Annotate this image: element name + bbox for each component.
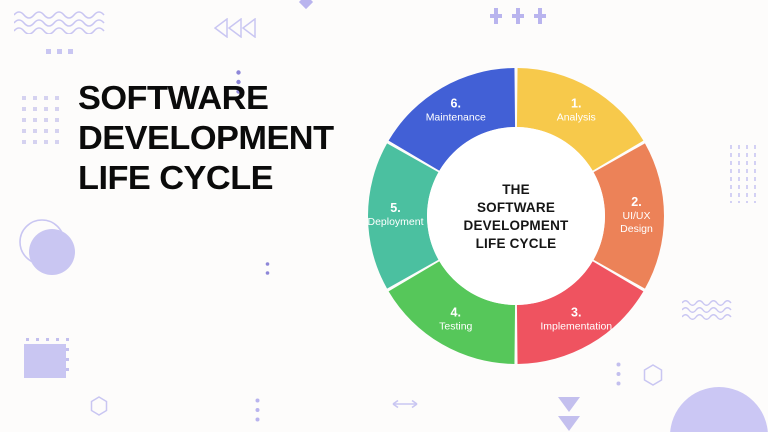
page-title: SOFTWARE DEVELOPMENT LIFE CYCLE	[78, 78, 378, 198]
segment-label: Maintenance	[426, 112, 486, 124]
center-text-line: THE	[502, 182, 530, 197]
segment-label: UI/UX	[622, 210, 650, 222]
dot-grid-small-left-icon	[26, 338, 72, 374]
circle-filled-bottom-right-icon	[670, 387, 768, 432]
dashed-lines-right-icon	[730, 145, 756, 203]
title-line-2: DEVELOPMENT	[78, 118, 390, 158]
segment-number: 1.	[571, 97, 581, 111]
slide-canvas: SOFTWARE DEVELOPMENT LIFE CYCLE 1.Analys…	[0, 0, 768, 432]
title-line-1: SOFTWARE	[78, 78, 390, 118]
center-text-line: LIFE CYCLE	[476, 236, 557, 251]
segment-number: 2.	[631, 195, 641, 209]
diamond-top-icon	[297, 0, 315, 14]
segment-label-2: Design	[620, 223, 653, 235]
center-text-line: DEVELOPMENT	[464, 218, 570, 233]
segment-label: Testing	[439, 320, 472, 332]
donut-center-hole	[427, 127, 605, 305]
segment-label: Implementation	[540, 320, 612, 332]
double-arrow-bottom-icon	[388, 398, 422, 410]
center-text-line: SOFTWARE	[477, 200, 555, 215]
wave-lines-bottom-right-icon	[682, 298, 734, 320]
segment-number: 4.	[451, 305, 461, 319]
dot-grid-left-icon	[22, 96, 66, 150]
circle-outline-left-icon	[18, 218, 66, 266]
circle-filled-left-icon	[29, 229, 75, 275]
dot-column-bottom-center-icon	[255, 398, 260, 424]
hexagon-outline-bottom-left-icon	[90, 396, 108, 416]
plus-signs-top-center-icon	[490, 8, 550, 26]
triangles-down-bottom-icon	[556, 396, 582, 432]
rectangle-filled-left-icon	[24, 344, 66, 378]
dot-row-top-left-icon	[46, 48, 80, 56]
wave-lines-top-left-icon	[14, 8, 112, 34]
segment-number: 6.	[451, 97, 461, 111]
triangle-arrows-top-icon	[214, 18, 256, 38]
segment-number: 5.	[390, 201, 400, 215]
segment-number: 3.	[571, 305, 581, 319]
segment-label: Analysis	[557, 112, 596, 124]
dot-column-left-mid-icon	[265, 262, 270, 276]
sdlc-donut-chart: 1.Analysis2.UI/UXDesign3.Implementation4…	[368, 52, 664, 380]
segment-label: Deployment	[368, 216, 424, 228]
title-line-3: LIFE CYCLE	[78, 158, 390, 198]
